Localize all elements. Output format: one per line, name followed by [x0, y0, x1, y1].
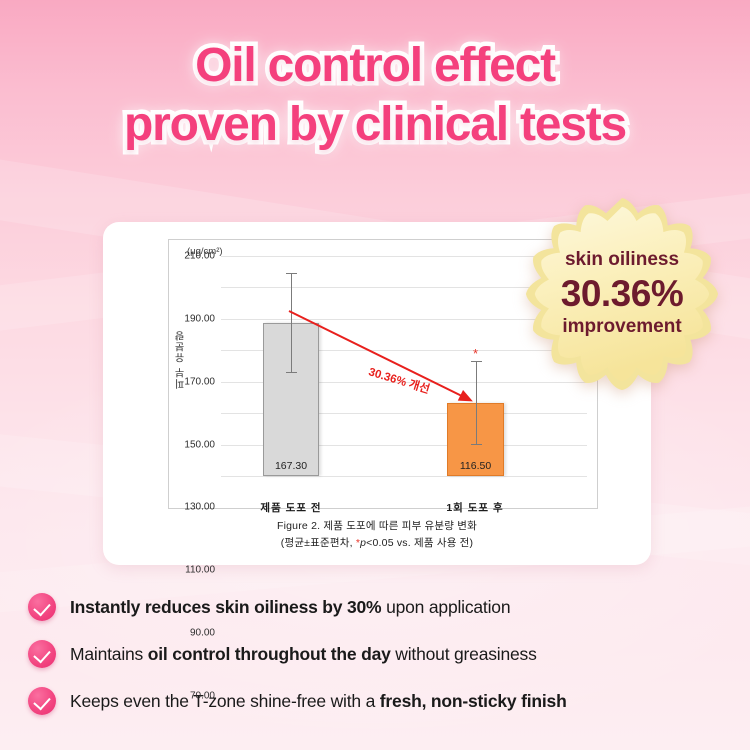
check-circle-icon: [28, 593, 56, 621]
trend-annotation-label: 30.36% 개선: [367, 363, 432, 397]
gridline: 70.00: [221, 476, 587, 477]
badge-top-label: skin oiliness: [565, 249, 679, 272]
x-tick-label-before: 제품 도포 전: [235, 500, 347, 515]
y-tick-label: 150.00: [184, 439, 215, 450]
benefit-item: Keeps even the T-zone shine-free with a …: [28, 686, 728, 716]
error-cap-bottom: [286, 372, 297, 373]
benefit-item: Instantly reduces skin oiliness by 30% u…: [28, 592, 728, 622]
improvement-badge: skin oiliness 30.36% improvement: [524, 196, 720, 392]
benefit-item-label: Instantly reduces skin oiliness by 30% u…: [70, 597, 510, 618]
figure-caption-line-2: (평균±표준편차, *p<0.05 vs. 제품 사용 전): [103, 535, 651, 552]
badge-text: skin oiliness 30.36% improvement: [524, 196, 720, 392]
headline-line-1: Oil control effect: [0, 36, 750, 95]
figure-caption: Figure 2. 제품 도포에 따른 피부 유분량 변화 (평균±표준편차, …: [103, 518, 651, 553]
benefit-list: Instantly reduces skin oiliness by 30% u…: [28, 592, 728, 733]
significance-asterisk: *: [473, 347, 478, 360]
error-cap-bottom: [471, 444, 482, 445]
caption-pre: (평균±표준편차,: [281, 537, 356, 549]
benefit-item-label: Maintains oil control throughout the day…: [70, 644, 537, 665]
page-title: Oil control effect proven by clinical te…: [0, 36, 750, 154]
x-tick-label-after: 1회 도포 후: [419, 500, 531, 515]
bar-value-before: 167.30: [264, 460, 318, 472]
benefit-item-label: Keeps even the T-zone shine-free with a …: [70, 691, 567, 712]
bar-value-after: 116.50: [448, 460, 503, 472]
badge-bottom-label: improvement: [562, 316, 681, 339]
check-circle-icon: [28, 687, 56, 715]
error-cap-top: [471, 361, 482, 362]
benefit-item: Maintains oil control throughout the day…: [28, 639, 728, 669]
y-tick-label: 210.00: [184, 251, 215, 262]
y-tick-label: 110.00: [185, 565, 215, 576]
y-tick-label: 170.00: [184, 376, 215, 387]
caption-post: <0.05 vs. 제품 사용 전): [366, 537, 473, 549]
y-tick-label: 130.00: [184, 502, 215, 513]
figure-caption-line-1: Figure 2. 제품 도포에 따른 피부 유분량 변화: [103, 518, 651, 535]
badge-value: 30.36%: [561, 272, 684, 316]
y-tick-label: 90.00: [190, 628, 215, 639]
y-tick-label: 70.00: [190, 691, 215, 702]
check-circle-icon: [28, 640, 56, 668]
error-bar-after: [476, 361, 477, 446]
error-cap-top: [286, 273, 297, 274]
y-tick-label: 190.00: [184, 313, 215, 324]
error-bar-before: [291, 273, 292, 374]
headline-line-2: proven by clinical tests: [0, 95, 750, 154]
